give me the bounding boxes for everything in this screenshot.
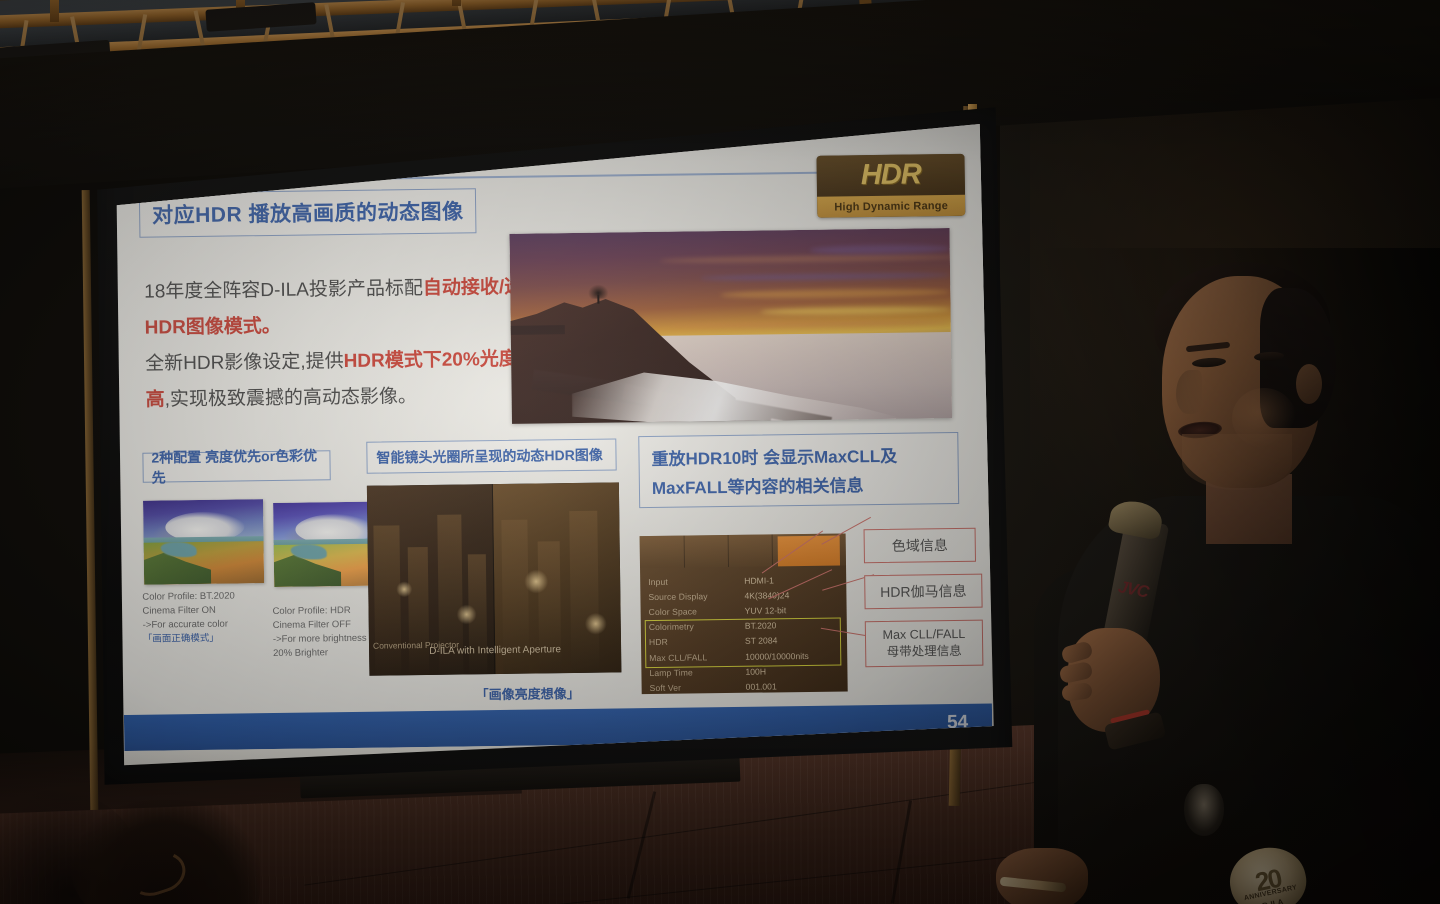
presenter-jaw (1182, 434, 1292, 490)
hero-hdr-photo (509, 228, 952, 424)
presentation-room-scene: 新商品特点 对应HDR 播放高画质的动态图像 HDR High Dynamic … (0, 0, 1440, 904)
hdr-logo-mark-area: HDR (816, 154, 965, 197)
presenter-left-hand (996, 848, 1088, 904)
presenter-nose (1176, 370, 1202, 414)
presenter-ear (1296, 364, 1322, 404)
slide-surface: 新商品特点 对应HDR 播放高画质的动态图像 HDR High Dynamic … (86, 96, 1016, 796)
section-header-left: 2种配置 亮度优先or色彩优先 (142, 450, 330, 482)
aperture-comparison-photo: Conventional Projector D-ILA with Intell… (367, 482, 622, 675)
osd-highlight-box (645, 618, 842, 669)
projection-screen: 新商品特点 对应HDR 播放高画质的动态图像 HDR High Dynamic … (86, 96, 1016, 796)
hdr-logo-mark: HDR (861, 158, 921, 192)
comparison-photo-bt2020 (143, 499, 264, 585)
callout-maxcll-fall: Max CLL/FALL 母带处理信息 (865, 620, 984, 668)
osd-row: Soft Ver001.001 (650, 678, 842, 694)
brightness-imagination-note: 「画像亮度想像」 (476, 683, 580, 703)
callout-color-gamut: 色域信息 (864, 528, 976, 563)
presenter-chest-patch (1184, 784, 1224, 836)
slide-subtitle: 对应HDR 播放高画质的动态图像 (152, 200, 464, 227)
section-header-middle: 智能镜头光圈所呈现的动态HDR图像 (366, 438, 616, 473)
callout-hdr-gamma: HDR伽马信息 (864, 574, 982, 610)
hdr-logo: HDR High Dynamic Range (816, 154, 965, 218)
hdr-logo-tagline-area: High Dynamic Range (817, 195, 965, 218)
presenter: 20 ANNIVERSARY D-ILA JVC (1010, 248, 1440, 904)
slide-content: 新商品特点 对应HDR 播放高画质的动态图像 HDR High Dynamic … (116, 118, 992, 751)
comparison-caption-bt2020: Color Profile: BT.2020 Cinema Filter ON … (142, 589, 265, 647)
section-header-right: 重放HDR10时 会显示MaxCLL及 MaxFALL等内容的相关信息 (638, 432, 959, 508)
osd-info-screenshot: InputHDMI-1 Source Display4K(3840)24 Col… (640, 533, 848, 694)
hdr-logo-tagline: High Dynamic Range (834, 200, 948, 213)
slide-title: 新商品特点 (140, 143, 271, 181)
